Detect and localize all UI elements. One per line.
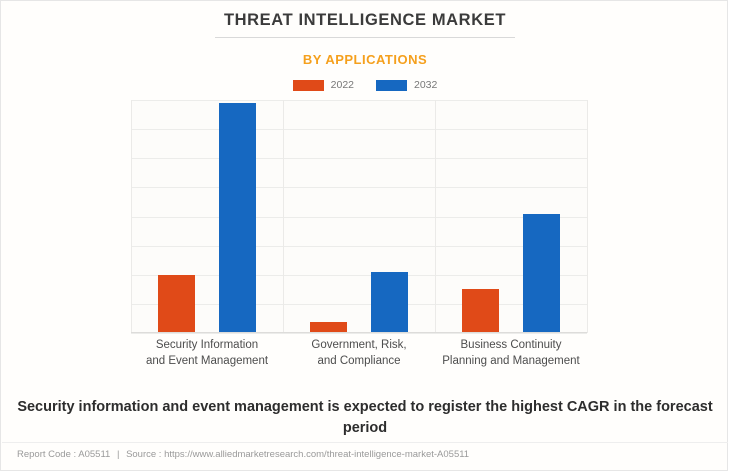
gridline-horizontal [131, 304, 587, 305]
title-divider [215, 37, 515, 38]
x-axis-line [131, 332, 587, 333]
gridline-vertical [587, 100, 588, 333]
legend-label-2032: 2032 [414, 80, 437, 91]
gridline-horizontal [131, 246, 587, 247]
report-code: Report Code : A05511 [17, 449, 110, 460]
bar-2032-cat2[interactable] [371, 272, 408, 333]
category-label-2: Government, Risk,and Compliance [283, 337, 435, 369]
category-label-line: Planning and Management [435, 353, 587, 369]
gridline-vertical [131, 100, 132, 333]
gridline-horizontal [131, 129, 587, 130]
category-label-line: and Event Management [131, 353, 283, 369]
bar-2032-cat3[interactable] [523, 214, 560, 333]
chart-legend: 2022 2032 [1, 80, 729, 91]
gridline-vertical [283, 100, 284, 333]
legend-swatch-2022 [293, 80, 324, 91]
chart-subtitle: BY APPLICATIONS [1, 52, 729, 67]
gridline-horizontal [131, 187, 587, 188]
footer: Report Code : A05511 | Source : https://… [17, 449, 469, 460]
bar-2032-cat1[interactable] [219, 103, 256, 333]
plot-area [131, 100, 587, 333]
category-label-line: Business Continuity [435, 337, 587, 353]
gridline-vertical [435, 100, 436, 333]
legend-item-2022[interactable]: 2022 [293, 80, 354, 91]
category-label-line: Government, Risk, [283, 337, 435, 353]
footer-divider [2, 442, 728, 443]
bar-2022-cat3[interactable] [462, 289, 499, 333]
category-label-3: Business ContinuityPlanning and Manageme… [435, 337, 587, 369]
gridline-horizontal [131, 158, 587, 159]
legend-label-2022: 2022 [331, 80, 354, 91]
chart-card: THREAT INTELLIGENCE MARKET BY APPLICATIO… [0, 0, 728, 471]
footer-separator: | [117, 449, 119, 460]
source-link[interactable]: Source : https://www.alliedmarketresearc… [126, 449, 469, 460]
legend-swatch-2032 [376, 80, 407, 91]
gridline-horizontal [131, 333, 587, 334]
category-label-line: Security Information [131, 337, 283, 353]
chart-caption: Security information and event managemen… [15, 397, 715, 439]
gridline-horizontal [131, 100, 587, 101]
legend-item-2032[interactable]: 2032 [376, 80, 437, 91]
gridline-horizontal [131, 217, 587, 218]
page-title: THREAT INTELLIGENCE MARKET [1, 11, 729, 30]
bar-2022-cat1[interactable] [158, 275, 195, 333]
gridline-horizontal [131, 275, 587, 276]
category-label-1: Security Informationand Event Management [131, 337, 283, 369]
category-label-line: and Compliance [283, 353, 435, 369]
